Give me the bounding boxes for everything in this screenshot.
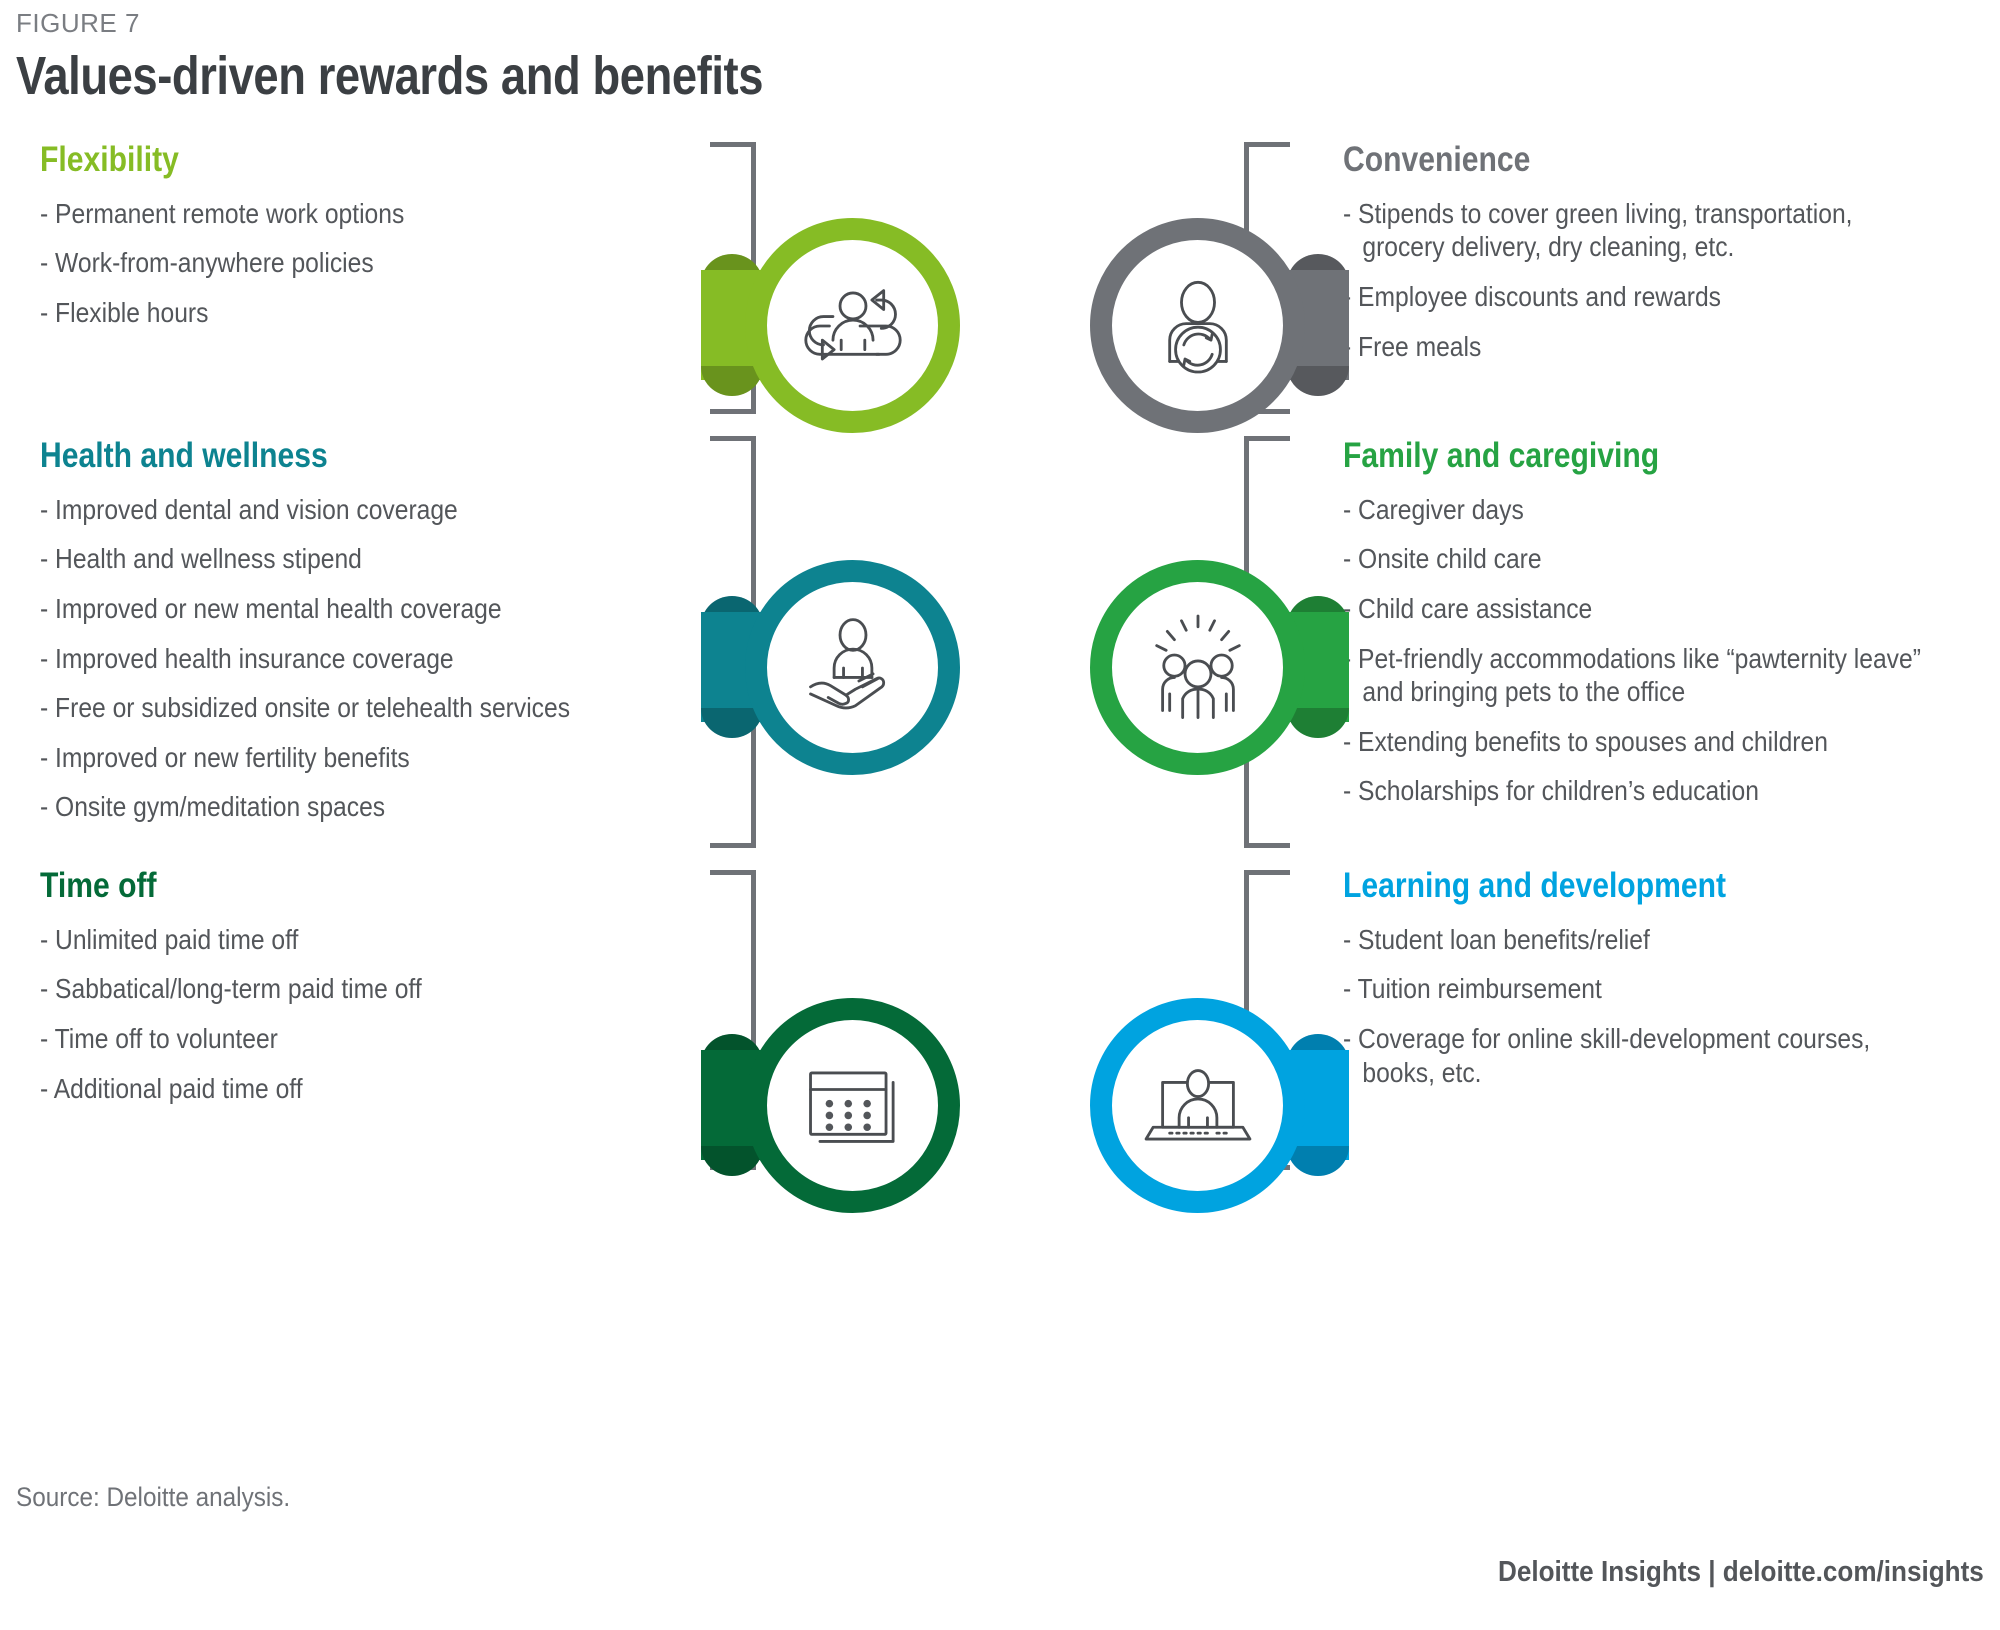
list-item-text: Improved or new fertility benefits: [55, 742, 410, 773]
figure-label: FIGURE 7: [16, 8, 140, 39]
figure-canvas: FIGURE 7 Values-driven rewards and benef…: [0, 0, 2000, 1630]
list-item-text: Extending benefits to spouses and childr…: [1358, 726, 1828, 757]
category-family: Family and caregiving- Caregiver days- O…: [1343, 438, 2000, 824]
category-health: Health and wellness- Improved dental and…: [40, 438, 710, 840]
list-item-text: Time off to volunteer: [55, 1023, 278, 1054]
bracket-bottom-stub: [710, 843, 756, 848]
list-item: - Pet-friendly accommodations like “pawt…: [1343, 642, 1933, 709]
list-item: - Health and wellness stipend: [40, 542, 630, 576]
category-timeoff: Time off- Unlimited paid time off- Sabba…: [40, 868, 710, 1121]
bullet-dash: -: [1343, 726, 1358, 757]
bracket-top-stub: [710, 142, 756, 147]
category-title-convenience: Convenience: [1343, 142, 1919, 179]
bullet-dash: -: [1343, 775, 1358, 806]
bullet-dash: -: [1343, 494, 1358, 525]
list-item: - Additional paid time off: [40, 1072, 630, 1106]
list-item: - Onsite gym/meditation spaces: [40, 790, 630, 824]
ribbon-fold-bottom: [1287, 366, 1349, 396]
list-item-text: Work-from-anywhere policies: [55, 247, 374, 278]
list-item-text: Free meals: [1358, 331, 1481, 362]
medallion-health: [745, 560, 960, 775]
hand-holding-person-icon: [794, 609, 912, 727]
list-item: - Improved or new mental health coverage: [40, 592, 630, 626]
list-item-text: Flexible hours: [55, 297, 208, 328]
page-title: Values-driven rewards and benefits: [16, 45, 763, 107]
bullet-dash: -: [1343, 198, 1358, 229]
bullet-dash: -: [40, 692, 55, 723]
list-item-text: Student loan benefits/relief: [1358, 924, 1650, 955]
list-item: - Flexible hours: [40, 296, 630, 330]
bracket-top-stub: [710, 870, 756, 875]
bullet-dash: -: [40, 247, 55, 278]
bullet-dash: -: [40, 297, 55, 328]
list-item: - Permanent remote work options: [40, 197, 630, 231]
list-item: - Onsite child care: [1343, 542, 1933, 576]
list-item-text: Sabbatical/long-term paid time off: [55, 973, 422, 1004]
person-rotating-arrows-icon: [794, 267, 912, 385]
bullet-dash: -: [40, 198, 55, 229]
list-item-text: Unlimited paid time off: [55, 924, 298, 955]
category-title-family: Family and caregiving: [1343, 438, 1919, 475]
list-item-text: Onsite gym/meditation spaces: [55, 791, 385, 822]
bracket-top-stub: [1244, 436, 1290, 441]
list-item: - Improved health insurance coverage: [40, 642, 630, 676]
list-item-text: Onsite child care: [1358, 543, 1542, 574]
category-title-health: Health and wellness: [40, 438, 616, 475]
bullet-dash: -: [1343, 543, 1358, 574]
category-list-learning: - Student loan benefits/relief- Tuition …: [1343, 923, 2000, 1089]
ribbon-fold-bottom: [701, 1146, 763, 1176]
bracket-top-stub: [1244, 870, 1290, 875]
bullet-dash: -: [40, 543, 55, 574]
bullet-dash: -: [40, 1023, 55, 1054]
ribbon-fold-bottom: [1287, 1146, 1349, 1176]
list-item: - Free or subsidized onsite or telehealt…: [40, 691, 630, 725]
bullet-dash: -: [1343, 924, 1358, 955]
bracket-top-stub: [1244, 142, 1290, 147]
laptop-person-icon: [1139, 1047, 1257, 1165]
category-title-timeoff: Time off: [40, 868, 616, 905]
bullet-dash: -: [40, 742, 55, 773]
person-refresh-icon: [1139, 267, 1257, 385]
list-item-text: Stipends to cover green living, transpor…: [1358, 198, 1852, 263]
list-item: - Employee discounts and rewards: [1343, 280, 1933, 314]
list-item-text: Tuition reimbursement: [1358, 973, 1602, 1004]
category-title-flexibility: Flexibility: [40, 142, 616, 179]
list-item-text: Coverage for online skill-development co…: [1358, 1023, 1870, 1088]
medallion-timeoff: [745, 998, 960, 1213]
list-item-text: Additional paid time off: [54, 1073, 303, 1104]
bullet-dash: -: [40, 1073, 54, 1104]
list-item-text: Improved or new mental health coverage: [55, 593, 502, 624]
list-item: - Child care assistance: [1343, 592, 1933, 626]
bullet-dash: -: [40, 973, 55, 1004]
bullet-dash: -: [40, 494, 55, 525]
category-list-family: - Caregiver days- Onsite child care- Chi…: [1343, 493, 2000, 808]
bracket-bottom-stub: [1244, 843, 1290, 848]
list-item: - Tuition reimbursement: [1343, 972, 1933, 1006]
list-item-text: Improved health insurance coverage: [55, 643, 454, 674]
category-title-learning: Learning and development: [1343, 868, 1919, 905]
category-convenience: Convenience- Stipends to cover green liv…: [1343, 142, 2000, 379]
medallion-flexibility: [745, 218, 960, 433]
bullet-dash: -: [40, 593, 55, 624]
list-item-text: Employee discounts and rewards: [1358, 281, 1721, 312]
list-item: - Coverage for online skill-development …: [1343, 1022, 1933, 1089]
list-item: - Free meals: [1343, 330, 1933, 364]
list-item-text: Scholarships for children’s education: [1358, 775, 1759, 806]
list-item: - Time off to volunteer: [40, 1022, 630, 1056]
category-flexibility: Flexibility- Permanent remote work optio…: [40, 142, 710, 346]
medallion-convenience: [1090, 218, 1305, 433]
list-item-text: Permanent remote work options: [55, 198, 404, 229]
list-item-text: Child care assistance: [1358, 593, 1592, 624]
list-item: - Sabbatical/long-term paid time off: [40, 972, 630, 1006]
categories-grid: Flexibility- Permanent remote work optio…: [0, 128, 2000, 1458]
brand-footer: Deloitte Insights | deloitte.com/insight…: [1498, 1556, 1984, 1589]
list-item: - Extending benefits to spouses and chil…: [1343, 725, 1933, 759]
category-list-timeoff: - Unlimited paid time off- Sabbatical/lo…: [40, 923, 710, 1105]
list-item: - Caregiver days: [1343, 493, 1933, 527]
medallion-family: [1090, 560, 1305, 775]
bullet-dash: -: [1343, 973, 1358, 1004]
list-item: - Stipends to cover green living, transp…: [1343, 197, 1933, 264]
list-item-text: Caregiver days: [1358, 494, 1524, 525]
medallion-learning: [1090, 998, 1305, 1213]
bullet-dash: -: [40, 643, 55, 674]
ribbon-fold-bottom: [1287, 708, 1349, 738]
category-list-health: - Improved dental and vision coverage- H…: [40, 493, 710, 824]
list-item: - Unlimited paid time off: [40, 923, 630, 957]
bullet-dash: -: [40, 924, 55, 955]
bracket-top-stub: [710, 436, 756, 441]
calendar-icon: [794, 1047, 912, 1165]
list-item-text: Pet-friendly accommodations like “pawter…: [1358, 643, 1921, 708]
list-item-text: Health and wellness stipend: [55, 543, 362, 574]
category-list-flexibility: - Permanent remote work options- Work-fr…: [40, 197, 710, 330]
list-item: - Scholarships for children’s education: [1343, 774, 1933, 808]
list-item-text: Improved dental and vision coverage: [55, 494, 458, 525]
category-list-convenience: - Stipends to cover green living, transp…: [1343, 197, 2000, 363]
list-item-text: Free or subsidized onsite or telehealth …: [55, 692, 570, 723]
category-learning: Learning and development- Student loan b…: [1343, 868, 2000, 1105]
family-group-icon: [1139, 609, 1257, 727]
list-item: - Improved dental and vision coverage: [40, 493, 630, 527]
list-item: - Student loan benefits/relief: [1343, 923, 1933, 957]
source-note: Source: Deloitte analysis.: [16, 1482, 290, 1513]
bullet-dash: -: [40, 791, 55, 822]
list-item: - Work-from-anywhere policies: [40, 246, 630, 280]
list-item: - Improved or new fertility benefits: [40, 741, 630, 775]
